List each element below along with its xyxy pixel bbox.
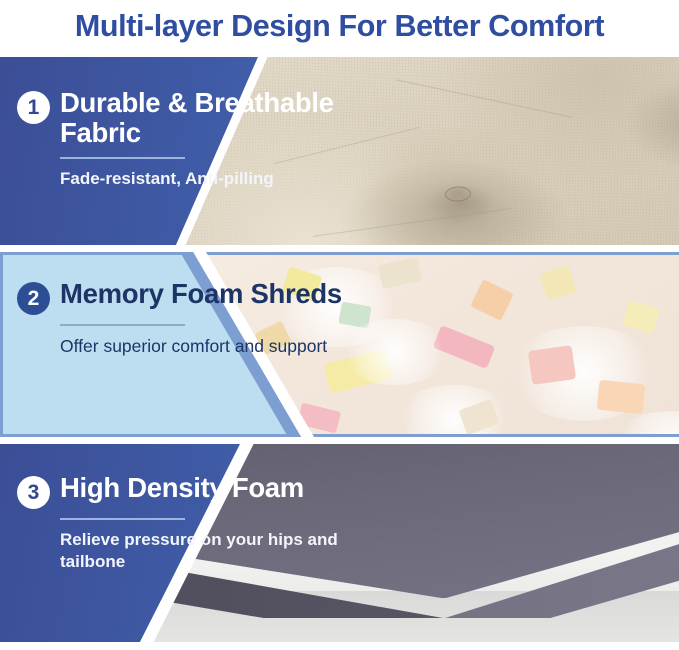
- foam-chip: [540, 265, 577, 301]
- multi-layer-design-infographic: Multi-layer Design For Better Comfort 1 …: [0, 0, 679, 650]
- panel-2-divider: [60, 324, 185, 326]
- panel-2-headline: Memory Foam Shreds: [60, 279, 342, 309]
- fiber-fluff: [394, 385, 514, 437]
- panel-1-subtitle: Fade-resistant, Anti-pilling: [60, 168, 347, 190]
- title-bar: Multi-layer Design For Better Comfort: [0, 0, 679, 52]
- foam-chip: [470, 279, 514, 321]
- foam-chip: [527, 345, 575, 385]
- feature-panel-3: 3 High Density Foam Relieve pressure on …: [0, 444, 679, 642]
- feature-panel-2: 2 Memory Foam Shreds Offer superior comf…: [0, 252, 679, 437]
- panel-2-subtitle: Offer superior comfort and support: [60, 335, 347, 357]
- panel-2-number-badge: 2: [17, 282, 50, 315]
- foam-chip: [378, 257, 422, 289]
- panel-separator-2: [0, 437, 679, 444]
- tuft-shadow: [625, 76, 679, 171]
- panel-3-content: 3 High Density Foam Relieve pressure on …: [17, 444, 347, 642]
- panel-3-divider: [60, 518, 185, 520]
- fiber-fluff: [340, 319, 450, 385]
- panel-1-heading-row: 1 Durable & Breathable Fabric: [17, 88, 347, 148]
- bottom-edge: [0, 642, 679, 650]
- fiber-fluff: [611, 411, 679, 437]
- feature-panel-1: 1 Durable & Breathable Fabric Fade-resis…: [0, 57, 679, 245]
- panel-3-number-badge: 3: [17, 476, 50, 509]
- panel-1-headline: Durable & Breathable Fabric: [60, 88, 347, 148]
- panel-3-subtitle: Relieve pressure on your hips and tailbo…: [60, 529, 347, 573]
- panel-2-content: 2 Memory Foam Shreds Offer superior comf…: [17, 252, 347, 437]
- panel-1-content: 1 Durable & Breathable Fabric Fade-resis…: [17, 57, 347, 245]
- panel-1-divider: [60, 157, 185, 159]
- foam-chip: [596, 379, 645, 414]
- page-title: Multi-layer Design For Better Comfort: [75, 9, 604, 44]
- panel-1-number-badge: 1: [17, 91, 50, 124]
- foam-chip: [622, 300, 660, 334]
- panel-3-heading-row: 3 High Density Foam: [17, 473, 347, 509]
- fabric-seam: [396, 80, 572, 119]
- panel-3-headline: High Density Foam: [60, 473, 304, 503]
- panel-separator-1: [0, 245, 679, 252]
- panel-2-heading-row: 2 Memory Foam Shreds: [17, 279, 347, 315]
